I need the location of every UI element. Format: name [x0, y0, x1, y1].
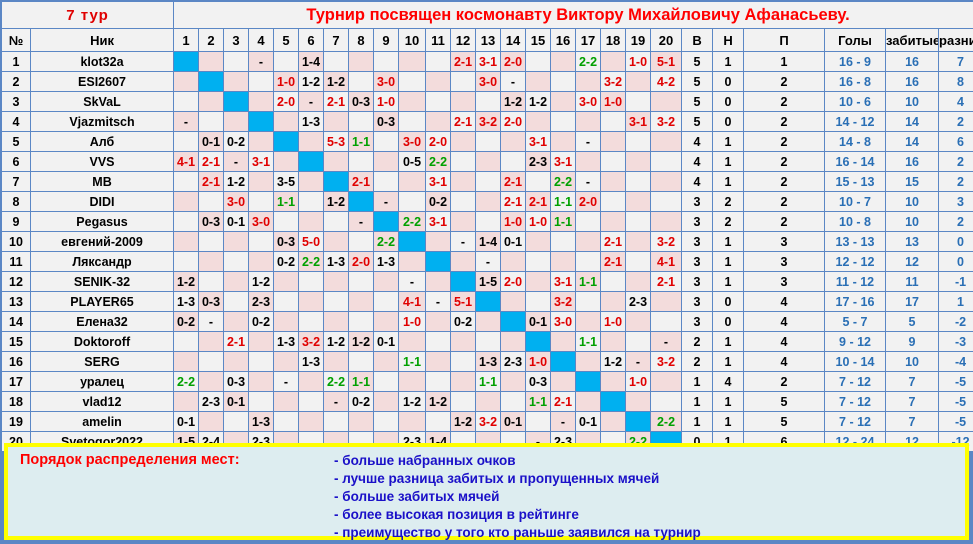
result-cell: [651, 312, 681, 331]
placement-rules-list: - больше набранных очков- лучше разница …: [320, 452, 701, 542]
result-score: 0-2: [352, 395, 370, 409]
row-losses: 2: [744, 112, 824, 131]
result-score: 1-0: [529, 215, 547, 229]
result-cell: [651, 152, 681, 171]
result-cell: 3-5: [274, 172, 298, 191]
result-score: 3-1: [429, 215, 447, 229]
result-score: 2-0: [579, 195, 597, 209]
result-cell: 1-3: [324, 252, 348, 271]
result-score: 0-2: [177, 315, 195, 329]
result-score: 2-2: [579, 55, 597, 69]
result-cell: 1-2: [399, 392, 425, 411]
result-cell: 1-1: [551, 192, 575, 211]
result-cell: 1-3: [174, 292, 198, 311]
result-cell: [224, 352, 248, 371]
result-score: -: [284, 375, 288, 389]
result-score: 3-1: [479, 55, 497, 69]
placement-rule-item: - больше забитых мячей: [334, 488, 701, 506]
result-cell: [249, 172, 273, 191]
result-score: 2-3: [504, 355, 522, 369]
row-draws: 4: [713, 372, 743, 391]
result-score: 2-2: [177, 375, 195, 389]
result-cell: [174, 392, 198, 411]
row-goals: 13 - 13: [825, 232, 885, 251]
result-score: 0-3: [277, 235, 295, 249]
result-cell: 1-2: [224, 172, 248, 191]
result-cell: [224, 412, 248, 431]
result-cell: [199, 372, 223, 391]
result-cell: [626, 212, 650, 231]
result-cell: [626, 332, 650, 351]
result-cell: 1-0: [274, 72, 298, 91]
row-losses: 3: [744, 272, 824, 291]
result-score: 4-1: [657, 255, 675, 269]
row-nick: Doktoroff: [31, 332, 173, 351]
row-losses: 3: [744, 232, 824, 251]
result-cell: 1-2: [299, 72, 323, 91]
result-cell: [374, 352, 398, 371]
result-cell: 1-0: [626, 372, 650, 391]
result-cell: 3-2: [476, 112, 500, 131]
row-rank: 14: [2, 312, 30, 331]
column-header-opponent-13: 13: [476, 29, 500, 51]
result-cell: [374, 272, 398, 291]
result-cell: 3-0: [476, 72, 500, 91]
result-cell: 0-2: [451, 312, 475, 331]
result-score: 3-2: [657, 235, 675, 249]
result-cell: 3-0: [249, 212, 273, 231]
result-cell: 3-0: [374, 72, 398, 91]
row-scored: 16: [886, 152, 938, 171]
result-score: 3-2: [554, 295, 572, 309]
result-cell: 2-2: [651, 412, 681, 431]
result-cell: [349, 72, 373, 91]
result-score: 1-1: [579, 335, 597, 349]
result-cell: 3-1: [426, 172, 450, 191]
result-score: 5-1: [657, 55, 675, 69]
result-score: 1-1: [277, 195, 295, 209]
row-wins: 5: [682, 52, 712, 71]
row-rank: 10: [2, 232, 30, 251]
result-cell: [324, 152, 348, 171]
result-cell: 3-0: [576, 92, 600, 111]
result-cell: [399, 372, 425, 391]
result-score: 1-0: [604, 315, 622, 329]
row-wins: 3: [682, 252, 712, 271]
result-cell: [526, 412, 550, 431]
result-score: 1-2: [327, 335, 345, 349]
placement-rule-item: - преимущество у того кто раньше заявилс…: [334, 524, 701, 542]
row-scored: 15: [886, 172, 938, 191]
row-diff: 1: [939, 292, 973, 311]
row-losses: 2: [744, 172, 824, 191]
row-diff: 0: [939, 232, 973, 251]
result-score: 0-1: [377, 335, 395, 349]
result-cell: [576, 392, 600, 411]
result-cell: 1-1: [476, 372, 500, 391]
result-score: 1-0: [277, 75, 295, 89]
result-cell: 3-1: [626, 112, 650, 131]
result-cell: [374, 312, 398, 331]
result-cell: [299, 412, 323, 431]
row-diff: -5: [939, 392, 973, 411]
row-goals: 16 - 9: [825, 52, 885, 71]
row-nick: уралец: [31, 372, 173, 391]
row-diff: 2: [939, 172, 973, 191]
result-score: 1-1: [529, 395, 547, 409]
result-score: 0-1: [529, 315, 547, 329]
column-header-opponent-7: 7: [324, 29, 348, 51]
result-cell: [224, 112, 248, 131]
row-scored: 14: [886, 132, 938, 151]
result-cell: [249, 192, 273, 211]
result-cell: [274, 272, 298, 291]
result-score: 2-1: [454, 115, 472, 129]
result-cell: [501, 372, 525, 391]
result-cell: 2-1: [324, 92, 348, 111]
result-cell: [626, 152, 650, 171]
result-cell: [551, 332, 575, 351]
result-cell: 1-0: [626, 52, 650, 71]
result-score: 0-1: [177, 415, 195, 429]
result-cell: 1-0: [526, 352, 550, 371]
result-score: 1-3: [302, 355, 320, 369]
result-cell: [576, 312, 600, 331]
result-cell: [526, 232, 550, 251]
result-cell: 0-2: [426, 192, 450, 211]
result-cell: 0-1: [199, 132, 223, 151]
result-cell: 1-2: [324, 72, 348, 91]
result-cell: 2-1: [526, 192, 550, 211]
result-score: 1-0: [377, 95, 395, 109]
result-score: 1-1: [554, 195, 572, 209]
result-score: -: [664, 335, 668, 349]
result-cell: [299, 272, 323, 291]
result-cell: [399, 52, 425, 71]
table-row: 2ESI26071-01-21-23-03-0-3-24-250216 - 81…: [2, 72, 973, 91]
result-cell: [551, 112, 575, 131]
result-score: 1-3: [479, 355, 497, 369]
row-scored: 12: [886, 252, 938, 271]
result-cell: [199, 112, 223, 131]
result-cell: [626, 312, 650, 331]
result-cell: 1-1: [349, 372, 373, 391]
column-header-num: №: [2, 29, 30, 51]
result-score: 2-0: [504, 275, 522, 289]
result-cell: 2-1: [501, 172, 525, 191]
result-cell: [249, 232, 273, 251]
result-cell: 5-1: [451, 292, 475, 311]
row-goals: 10 - 8: [825, 212, 885, 231]
row-goals: 14 - 12: [825, 112, 885, 131]
result-cell: [374, 52, 398, 71]
result-cell: [626, 252, 650, 271]
result-cell: [174, 212, 198, 231]
result-cell: [349, 352, 373, 371]
result-cell: [174, 132, 198, 151]
result-cell: [626, 192, 650, 211]
result-score: 0-2: [227, 135, 245, 149]
row-wins: 3: [682, 232, 712, 251]
result-cell: 2-3: [526, 152, 550, 171]
result-cell: 1-1: [274, 192, 298, 211]
result-cell: [626, 392, 650, 411]
row-rank: 12: [2, 272, 30, 291]
tour-label: 7 тур: [2, 2, 173, 28]
result-cell: -: [451, 232, 475, 251]
result-score: -: [586, 135, 590, 149]
result-cell: [426, 92, 450, 111]
row-rank: 8: [2, 192, 30, 211]
row-losses: 2: [744, 92, 824, 111]
result-cell: 3-2: [601, 72, 625, 91]
result-cell: -: [399, 272, 425, 291]
result-cell: 3-0: [551, 312, 575, 331]
row-draws: 1: [713, 332, 743, 351]
result-cell: [476, 312, 500, 331]
result-score: 0-3: [202, 295, 220, 309]
result-score: 0-3: [377, 115, 395, 129]
result-score: 1-4: [302, 55, 320, 69]
diagonal-cell: [576, 372, 600, 391]
result-cell: [426, 332, 450, 351]
result-cell: [174, 232, 198, 251]
row-goals: 16 - 14: [825, 152, 885, 171]
result-score: 2-3: [252, 295, 270, 309]
row-scored: 13: [886, 232, 938, 251]
column-header-opponent-18: 18: [601, 29, 625, 51]
row-scored: 5: [886, 312, 938, 331]
result-cell: 2-3: [249, 292, 273, 311]
result-score: 3-0: [252, 215, 270, 229]
row-goals: 9 - 12: [825, 332, 885, 351]
row-goals: 10 - 7: [825, 192, 885, 211]
result-cell: 0-2: [274, 252, 298, 271]
result-score: 1-2: [177, 275, 195, 289]
row-diff: 0: [939, 252, 973, 271]
row-wins: 1: [682, 372, 712, 391]
column-header-opponent-14: 14: [501, 29, 525, 51]
result-score: 2-2: [327, 375, 345, 389]
result-cell: [299, 292, 323, 311]
result-cell: 0-2: [224, 132, 248, 151]
result-cell: [224, 232, 248, 251]
result-cell: 3-2: [476, 412, 500, 431]
result-cell: [324, 52, 348, 71]
result-cell: [526, 52, 550, 71]
column-header-opponent-9: 9: [374, 29, 398, 51]
result-cell: [274, 412, 298, 431]
result-cell: [576, 152, 600, 171]
row-goals: 7 - 12: [825, 372, 885, 391]
result-score: 3-2: [657, 355, 675, 369]
result-cell: [174, 352, 198, 371]
row-draws: 0: [713, 112, 743, 131]
result-score: 0-3: [529, 375, 547, 389]
result-cell: [601, 192, 625, 211]
result-cell: [626, 232, 650, 251]
result-score: 3-2: [479, 115, 497, 129]
result-cell: 2-1: [199, 172, 223, 191]
result-cell: 2-0: [501, 272, 525, 291]
row-nick: Ляксандр: [31, 252, 173, 271]
tournament-table-page: 7 турТурнир посвящен космонавту Виктору …: [0, 0, 973, 544]
table-row: 6VVS4-12-1-3-10-52-22-33-141216 - 141621…: [2, 152, 973, 171]
column-header-opponent-4: 4: [249, 29, 273, 51]
result-score: 0-1: [227, 395, 245, 409]
result-cell: 1-0: [601, 312, 625, 331]
diagonal-cell: [324, 172, 348, 191]
result-cell: [199, 332, 223, 351]
row-wins: 3: [682, 192, 712, 211]
row-wins: 5: [682, 112, 712, 131]
result-cell: [399, 72, 425, 91]
table-row: 5Алб0-10-25-31-13-02-03-1-41214 - 814613: [2, 132, 973, 151]
result-score: -: [486, 255, 490, 269]
result-cell: 1-3: [299, 112, 323, 131]
result-cell: [476, 212, 500, 231]
diagonal-cell: [601, 392, 625, 411]
tournament-title: Турнир посвящен космонавту Виктору Михай…: [174, 2, 973, 28]
result-cell: 5-3: [324, 132, 348, 151]
result-cell: [451, 152, 475, 171]
result-cell: 2-1: [601, 252, 625, 271]
row-diff: -3: [939, 332, 973, 351]
result-cell: 1-1: [526, 392, 550, 411]
result-cell: 4-1: [174, 152, 198, 171]
result-cell: [274, 292, 298, 311]
row-losses: 5: [744, 412, 824, 431]
result-cell: 0-1: [174, 412, 198, 431]
row-nick: SkVaL: [31, 92, 173, 111]
result-score: -: [410, 275, 414, 289]
result-score: 1-1: [352, 135, 370, 149]
result-score: 1-0: [504, 215, 522, 229]
row-diff: 8: [939, 72, 973, 91]
result-cell: 2-0: [426, 132, 450, 151]
result-score: 3-0: [403, 135, 421, 149]
result-score: 3-1: [252, 155, 270, 169]
row-diff: -4: [939, 352, 973, 371]
row-diff: -1: [939, 272, 973, 291]
result-cell: [374, 292, 398, 311]
row-rank: 16: [2, 352, 30, 371]
result-cell: [451, 252, 475, 271]
result-cell: -: [426, 292, 450, 311]
result-score: 1-2: [454, 415, 472, 429]
result-cell: [299, 392, 323, 411]
row-rank: 19: [2, 412, 30, 431]
result-score: 1-1: [554, 215, 572, 229]
result-cell: [651, 132, 681, 151]
result-cell: [274, 392, 298, 411]
result-cell: 3-1: [526, 132, 550, 151]
result-cell: [526, 252, 550, 271]
result-cell: 0-1: [576, 412, 600, 431]
result-cell: [526, 112, 550, 131]
result-cell: [551, 252, 575, 271]
result-cell: 1-2: [501, 92, 525, 111]
result-cell: [426, 72, 450, 91]
result-cell: 5-1: [651, 52, 681, 71]
table-row: 12SENIK-321-21-2-1-52-03-11-12-131311 - …: [2, 272, 973, 291]
table-row: 10евгений-20090-35-02-2-1-40-12-13-23131…: [2, 232, 973, 251]
result-cell: [626, 92, 650, 111]
result-score: 3-1: [529, 135, 547, 149]
result-cell: 3-0: [224, 192, 248, 211]
result-score: 1-1: [403, 355, 421, 369]
row-diff: 2: [939, 112, 973, 131]
result-cell: [249, 392, 273, 411]
result-cell: [174, 92, 198, 111]
result-score: 0-3: [227, 375, 245, 389]
result-cell: [399, 412, 425, 431]
row-goals: 16 - 8: [825, 72, 885, 91]
result-cell: [651, 92, 681, 111]
result-score: 3-1: [629, 115, 647, 129]
result-cell: [274, 52, 298, 71]
result-score: 0-2: [429, 195, 447, 209]
result-cell: [174, 252, 198, 271]
result-score: 3-0: [227, 195, 245, 209]
result-cell: [651, 372, 681, 391]
result-cell: 0-1: [526, 312, 550, 331]
result-cell: [324, 292, 348, 311]
result-score: 2-2: [657, 415, 675, 429]
result-cell: [426, 112, 450, 131]
result-cell: [426, 52, 450, 71]
row-nick: PLAYER65: [31, 292, 173, 311]
result-cell: 0-3: [526, 372, 550, 391]
diagonal-cell: [174, 52, 198, 71]
result-cell: 1-0: [399, 312, 425, 331]
result-cell: [274, 352, 298, 371]
result-cell: 3-1: [551, 152, 575, 171]
diagonal-cell: [399, 232, 425, 251]
result-cell: [601, 52, 625, 71]
result-score: 5-1: [454, 295, 472, 309]
result-score: 1-1: [352, 375, 370, 389]
result-cell: [324, 272, 348, 291]
row-scored: 10: [886, 212, 938, 231]
row-scored: 7: [886, 372, 938, 391]
column-header-draws: Н: [713, 29, 743, 51]
diagonal-cell: [426, 252, 450, 271]
table-row: 3SkVaL2-0-2-10-31-01-21-23-01-050210 - 6…: [2, 92, 973, 111]
row-rank: 17: [2, 372, 30, 391]
result-cell: 4-1: [651, 252, 681, 271]
result-cell: 1-3: [476, 352, 500, 371]
result-cell: 1-5: [476, 272, 500, 291]
placement-rules-title: Порядок распределения мест:: [8, 452, 320, 468]
row-wins: 1: [682, 392, 712, 411]
result-score: 1-1: [479, 375, 497, 389]
result-score: 0-1: [579, 415, 597, 429]
row-losses: 4: [744, 312, 824, 331]
result-score: 1-0: [604, 95, 622, 109]
result-cell: 0-1: [224, 392, 248, 411]
result-cell: [576, 72, 600, 91]
result-score: 1-0: [629, 375, 647, 389]
result-cell: 0-3: [199, 292, 223, 311]
result-cell: 1-2: [324, 192, 348, 211]
result-cell: 2-2: [399, 212, 425, 231]
result-cell: [249, 352, 273, 371]
placement-rule-item: - больше набранных очков: [334, 452, 701, 470]
result-cell: [651, 212, 681, 231]
result-score: 2-3: [629, 295, 647, 309]
result-score: 2-3: [202, 395, 220, 409]
